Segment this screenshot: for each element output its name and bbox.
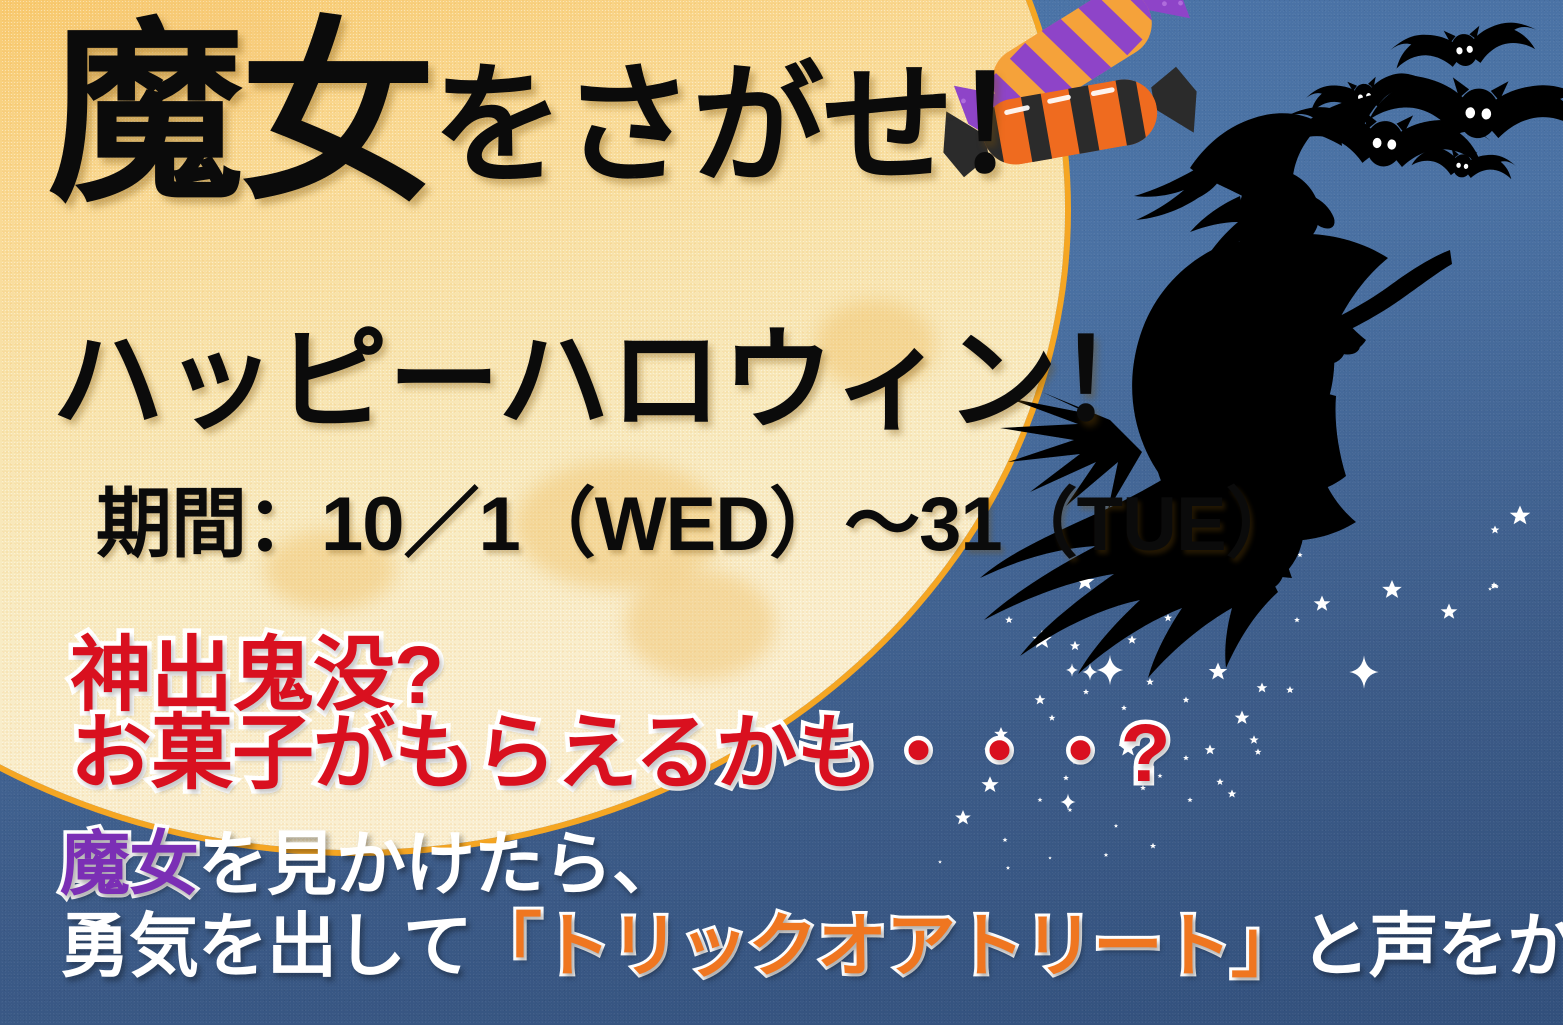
headline-rest: をさがせ！ [432, 60, 1082, 208]
instruction-line-2-post: と声をかけよう！ [1300, 907, 1563, 985]
headline-line-1: 魔女 をさがせ！ [48, 22, 1082, 208]
instruction-line-2-pre: 勇気を出して [60, 907, 472, 985]
teaser-line-2: お菓子がもらえるかも・・・? [70, 686, 1170, 805]
poster-text: 魔女 をさがせ！ ハッピーハロウィン！ 期間：10／1（WED）〜31（TUE）… [0, 0, 1563, 1025]
headline-emphasis-majo: 魔女 [48, 22, 432, 208]
instruction-line-2: 勇気を出して「トリックオアトリート」と声をかけよう！ [60, 890, 1563, 991]
instruction-quote-trick-or-treat: 「トリックオアトリート」 [472, 907, 1300, 985]
halloween-poster: 魔女 をさがせ！ ハッピーハロウィン！ 期間：10／1（WED）〜31（TUE）… [0, 0, 1563, 1025]
event-period: 期間：10／1（WED）〜31（TUE） [96, 462, 1301, 572]
headline-line-2: ハッピーハロウィン！ [52, 290, 1170, 452]
